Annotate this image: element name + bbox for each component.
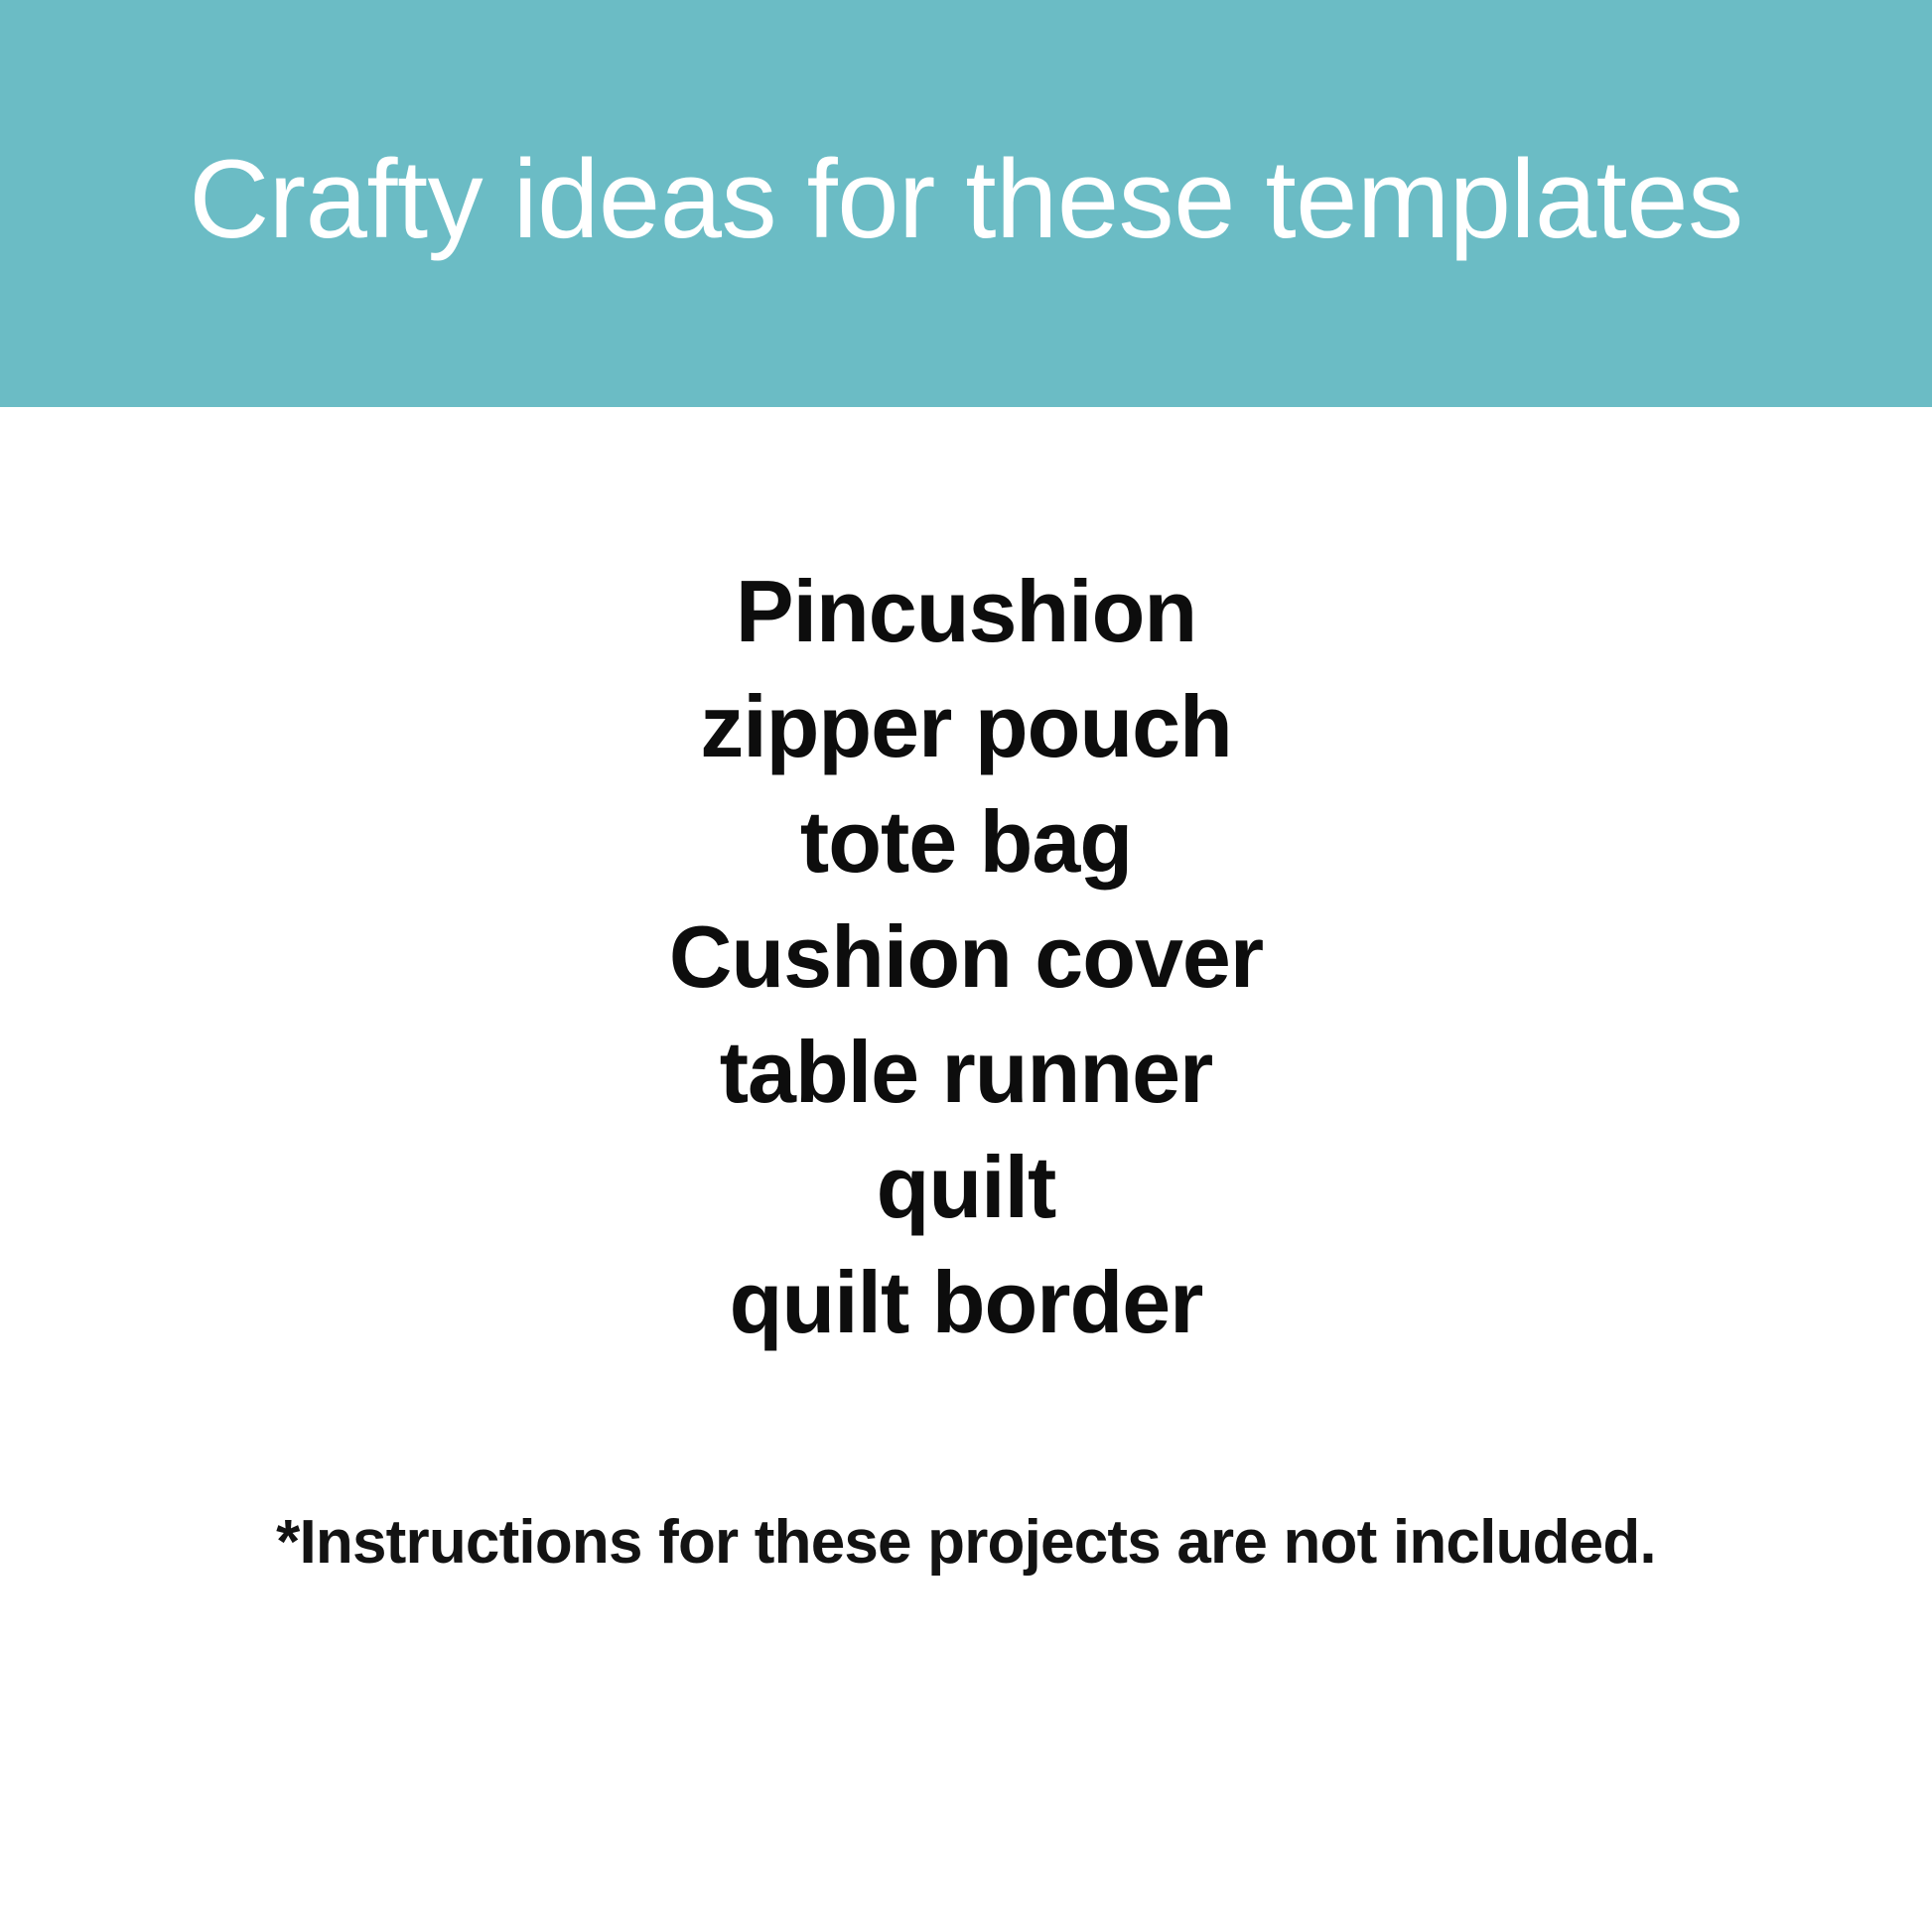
list-item: tote bag <box>0 784 1932 899</box>
crafty-ideas-list: Pincushion zipper pouch tote bag Cushion… <box>0 554 1932 1360</box>
list-item: quilt border <box>0 1245 1932 1360</box>
list-item: quilt <box>0 1130 1932 1245</box>
list-item: Cushion cover <box>0 899 1932 1015</box>
body-area: Pincushion zipper pouch tote bag Cushion… <box>0 407 1932 1932</box>
disclaimer-footnote: *Instructions for these projects are not… <box>0 1507 1932 1578</box>
list-item: table runner <box>0 1015 1932 1130</box>
page-title: Crafty ideas for these templates <box>149 141 1782 258</box>
list-item: Pincushion <box>0 554 1932 669</box>
list-item: zipper pouch <box>0 669 1932 784</box>
header-banner: Crafty ideas for these templates <box>0 0 1932 407</box>
graphic-page: Crafty ideas for these templates Pincush… <box>0 0 1932 1932</box>
